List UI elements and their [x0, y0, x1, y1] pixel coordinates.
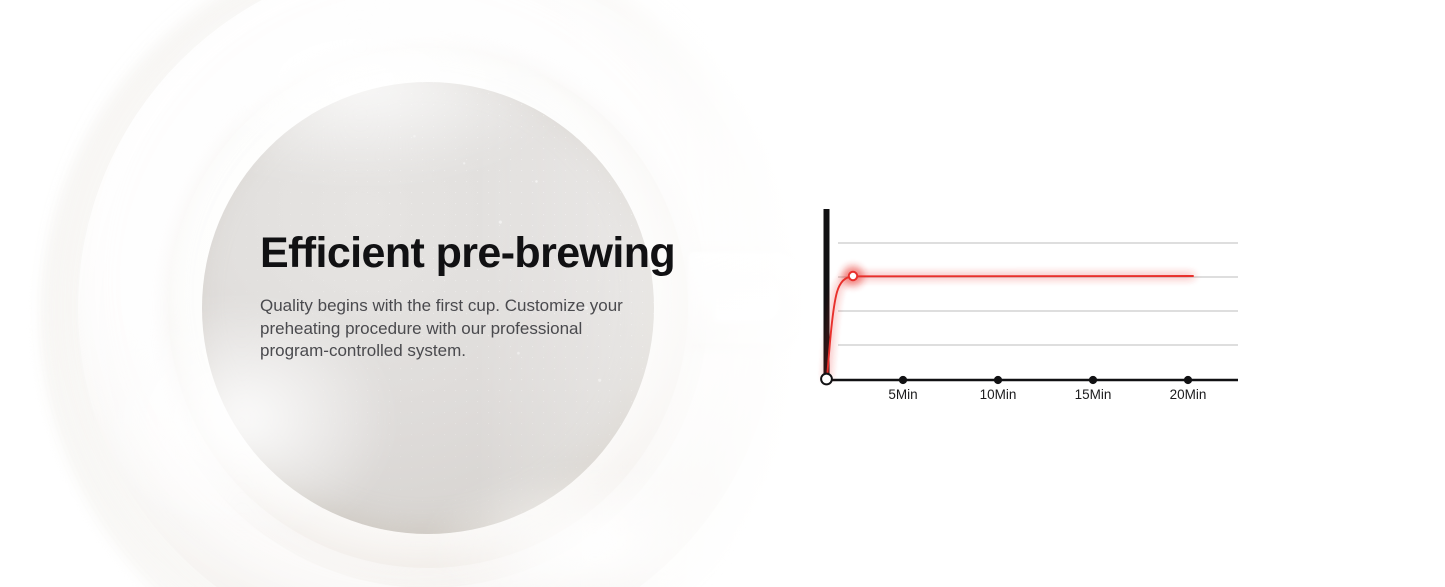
origin-marker: [821, 374, 832, 385]
x-tick-dot-15min: [1089, 376, 1097, 384]
preheat-curve: [827, 276, 1193, 379]
page-title: Efficient pre-brewing: [260, 225, 680, 281]
hero-section: Efficient pre-brewing Quality begins wit…: [0, 0, 1445, 587]
x-tick-label-15min: 15Min: [1075, 387, 1112, 402]
x-tick-dot-10min: [994, 376, 1002, 384]
chart-x-tick-labels: 5Min 10Min 15Min 20Min: [888, 387, 1206, 402]
hero-copy: Efficient pre-brewing Quality begins wit…: [260, 225, 680, 363]
x-tick-label-10min: 10Min: [980, 387, 1017, 402]
chart-gridlines: [838, 243, 1238, 345]
hero-description: Quality begins with the first cup. Custo…: [260, 295, 632, 363]
chart-svg: 5Min 10Min 15Min 20Min: [806, 196, 1256, 411]
target-temperature-marker[interactable]: [849, 272, 857, 280]
preheating-curve-chart: 5Min 10Min 15Min 20Min: [806, 196, 1256, 411]
x-tick-label-5min: 5Min: [888, 387, 917, 402]
preheat-curve-glow: [827, 276, 1193, 379]
x-tick-label-20min: 20Min: [1170, 387, 1207, 402]
x-tick-dot-5min: [899, 376, 907, 384]
x-tick-dot-20min: [1184, 376, 1192, 384]
cup-handle-opening: [714, 276, 780, 322]
